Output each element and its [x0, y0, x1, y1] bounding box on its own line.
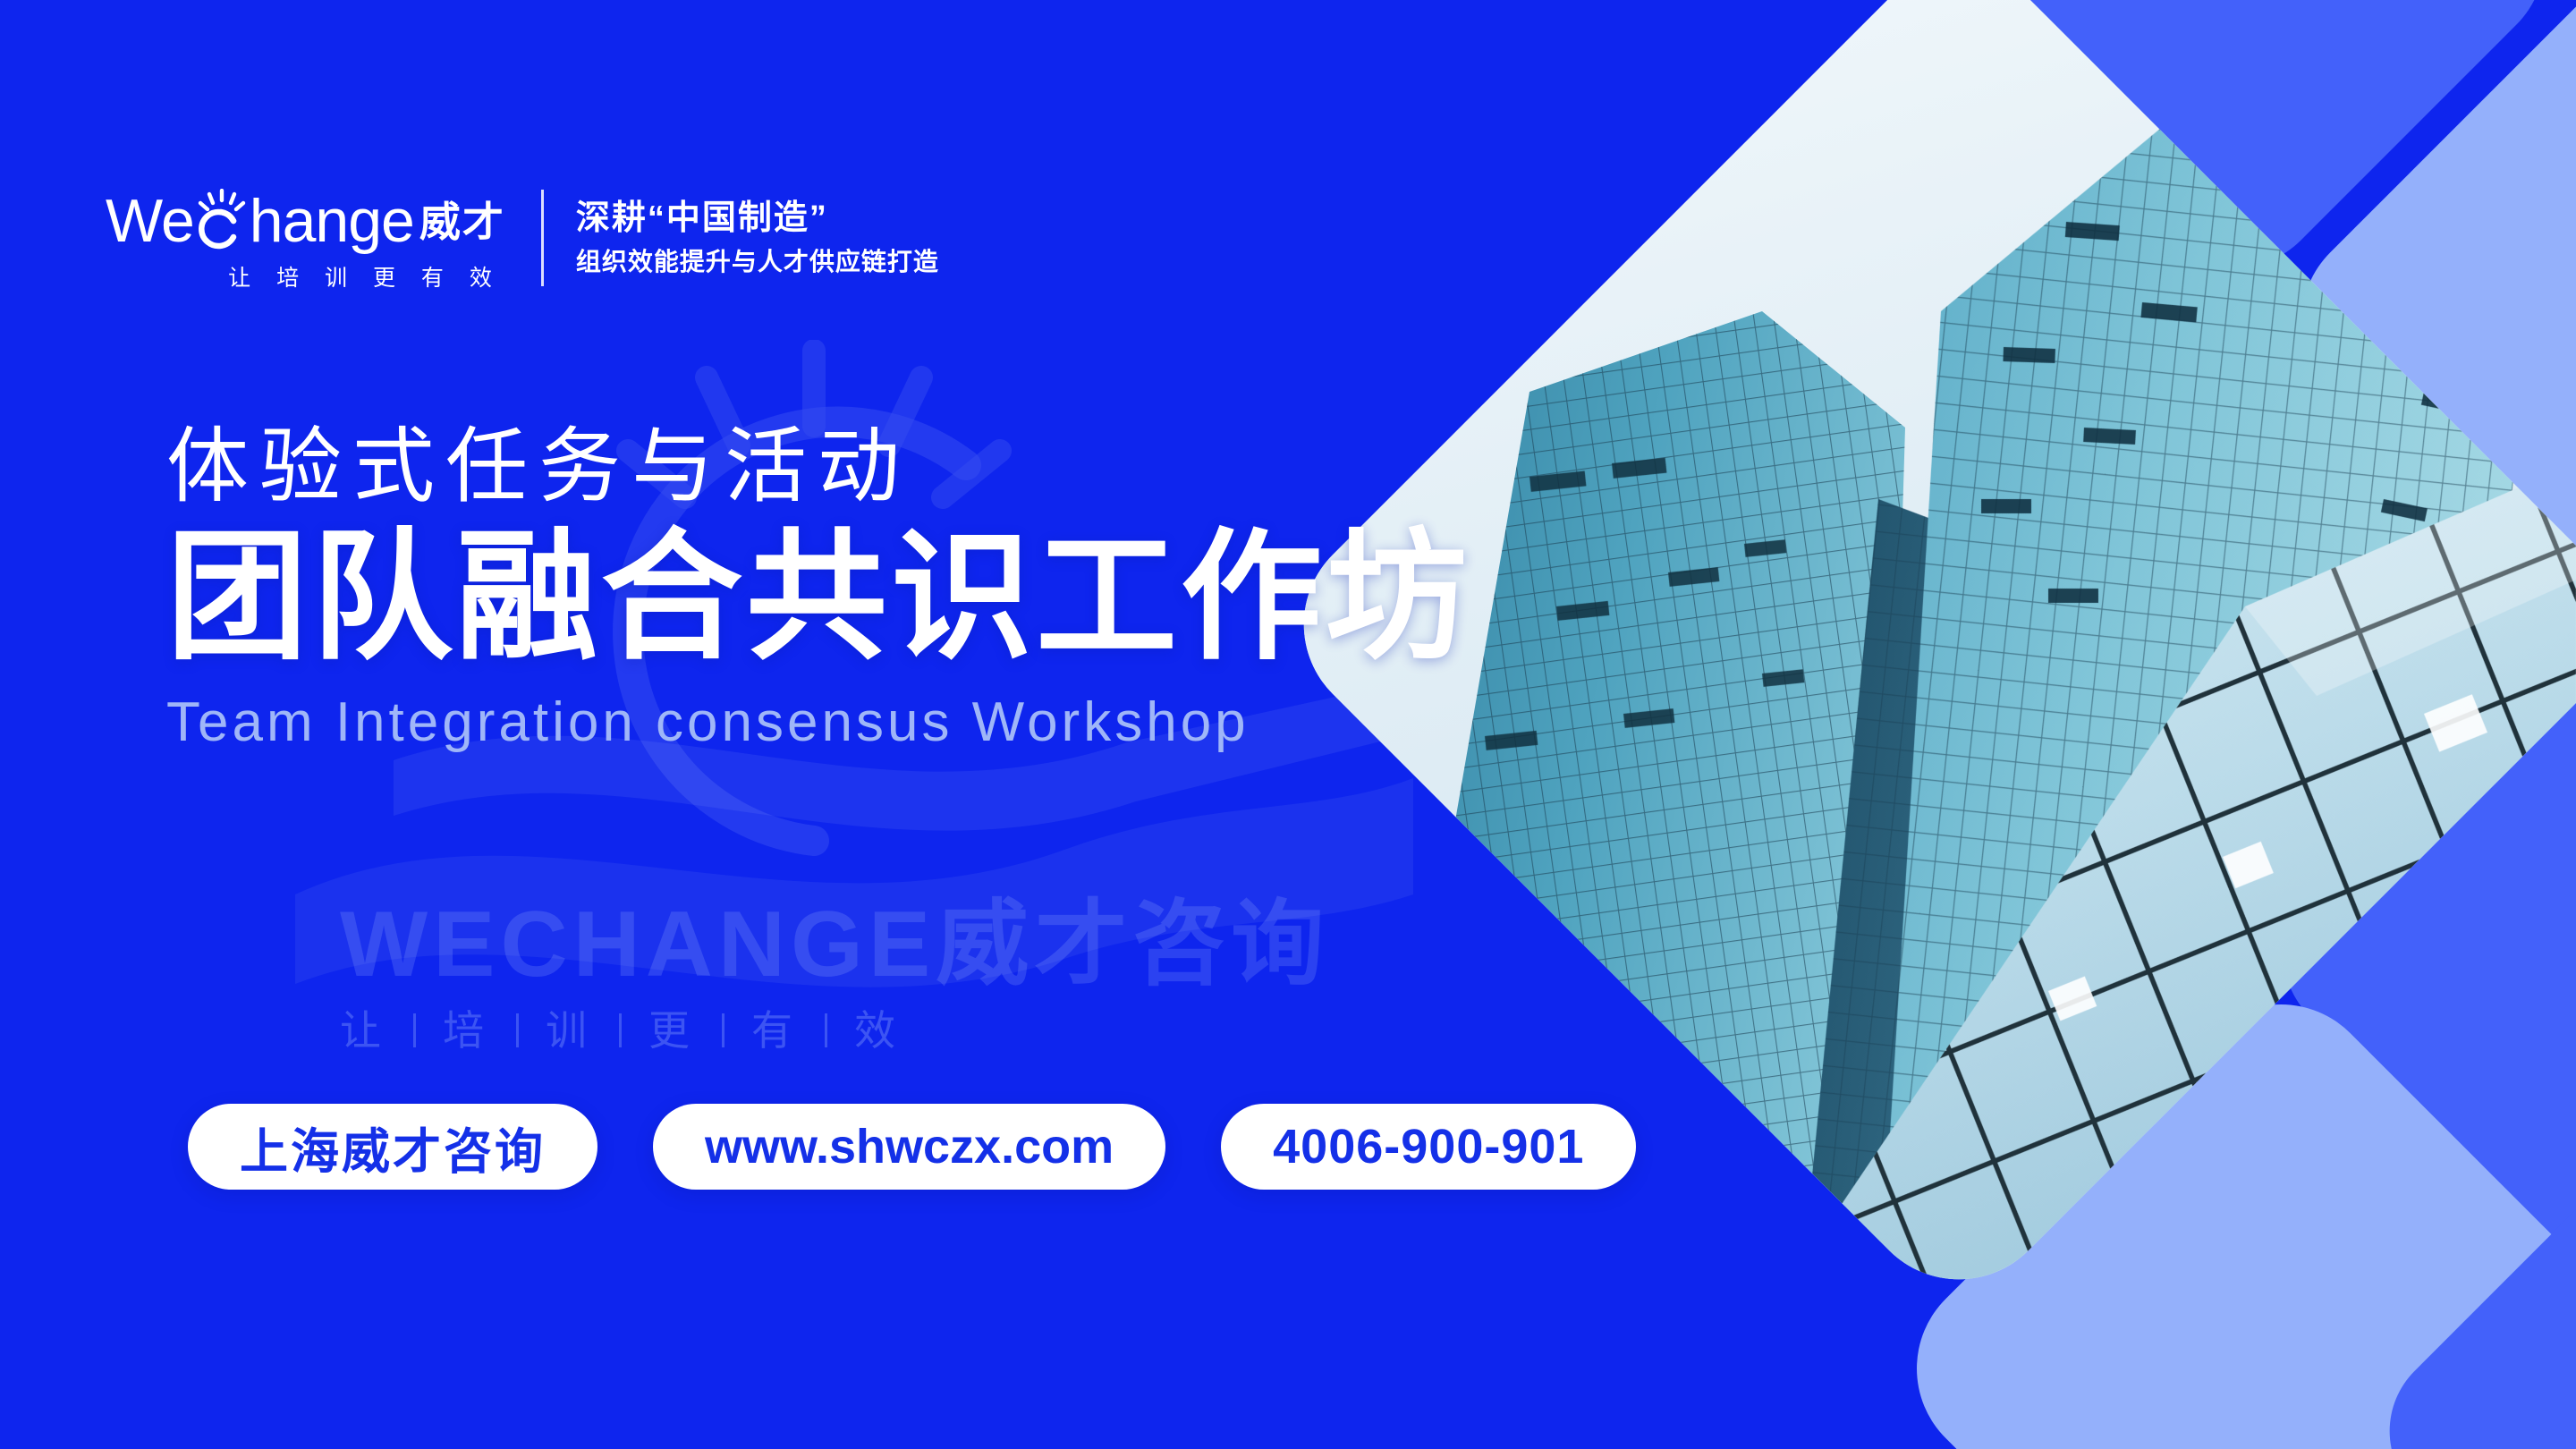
brand-logo-lockup[interactable]: We hange 威才	[106, 183, 939, 292]
brand-watermark: WECHANGE威才咨询 让 培 训 更 有 效	[340, 894, 1329, 1057]
slogan-sub: 组织效能提升与人才供应链打造	[576, 248, 939, 276]
contact-pill-row: 上海威才咨询 www.shwczx.com 4006-900-901	[188, 1104, 1636, 1190]
hero-subtitle-en: Team Integration consensus Workshop	[166, 691, 1470, 755]
watermark-sep-1	[516, 1013, 519, 1047]
watermark-char-2: 训	[546, 1004, 592, 1057]
slogan-main: 深耕“中国制造”	[576, 199, 939, 237]
promo-banner: We hange 威才	[0, 0, 2576, 1449]
logo-wordmark: We hange 威才	[106, 183, 505, 253]
watermark-sep-2	[619, 1013, 622, 1047]
watermark-wordmark: WECHANGE威才咨询	[340, 894, 1329, 995]
contact-pill-phone-label: 4006-900-901	[1273, 1119, 1584, 1174]
watermark-char-5: 效	[854, 1004, 901, 1057]
contact-pill-company-label: 上海威才咨询	[240, 1112, 546, 1182]
logo-wordmark-cn: 威才	[419, 191, 505, 253]
watermark-sep-3	[722, 1013, 724, 1047]
watermark-tagline: 让 培 训 更 有 效	[340, 1004, 1329, 1057]
logo-divider	[541, 190, 544, 286]
contact-pill-website[interactable]: www.shwczx.com	[653, 1104, 1165, 1190]
contact-pill-website-label: www.shwczx.com	[705, 1119, 1114, 1174]
sunburst-c-icon	[194, 189, 250, 253]
hero-kicker: 体验式任务与活动	[166, 420, 1470, 513]
watermark-char-4: 有	[751, 1004, 798, 1057]
watermark-char-0: 让	[340, 1004, 386, 1057]
logo-left: We hange 威才	[106, 183, 505, 292]
logo-tagline: 让 培 训 更 有 效	[106, 260, 505, 292]
page-title: 团队融合共识工作坊	[166, 519, 1470, 676]
watermark-sep-0	[413, 1013, 416, 1047]
logo-wordmark-we: We	[106, 189, 194, 253]
logo-wordmark-hange: hange	[250, 189, 414, 253]
watermark-char-3: 更	[648, 1004, 695, 1057]
brand-slogan: 深耕“中国制造” 组织效能提升与人才供应链打造	[576, 199, 939, 276]
watermark-sep-4	[825, 1013, 827, 1047]
watermark-char-1: 培	[443, 1004, 489, 1057]
hero-text-block: 体验式任务与活动 团队融合共识工作坊 Team Integration cons…	[166, 420, 1470, 755]
contact-pill-phone[interactable]: 4006-900-901	[1221, 1104, 1636, 1190]
decor-diamond-5	[2354, 1102, 2576, 1449]
contact-pill-company[interactable]: 上海威才咨询	[188, 1104, 597, 1190]
